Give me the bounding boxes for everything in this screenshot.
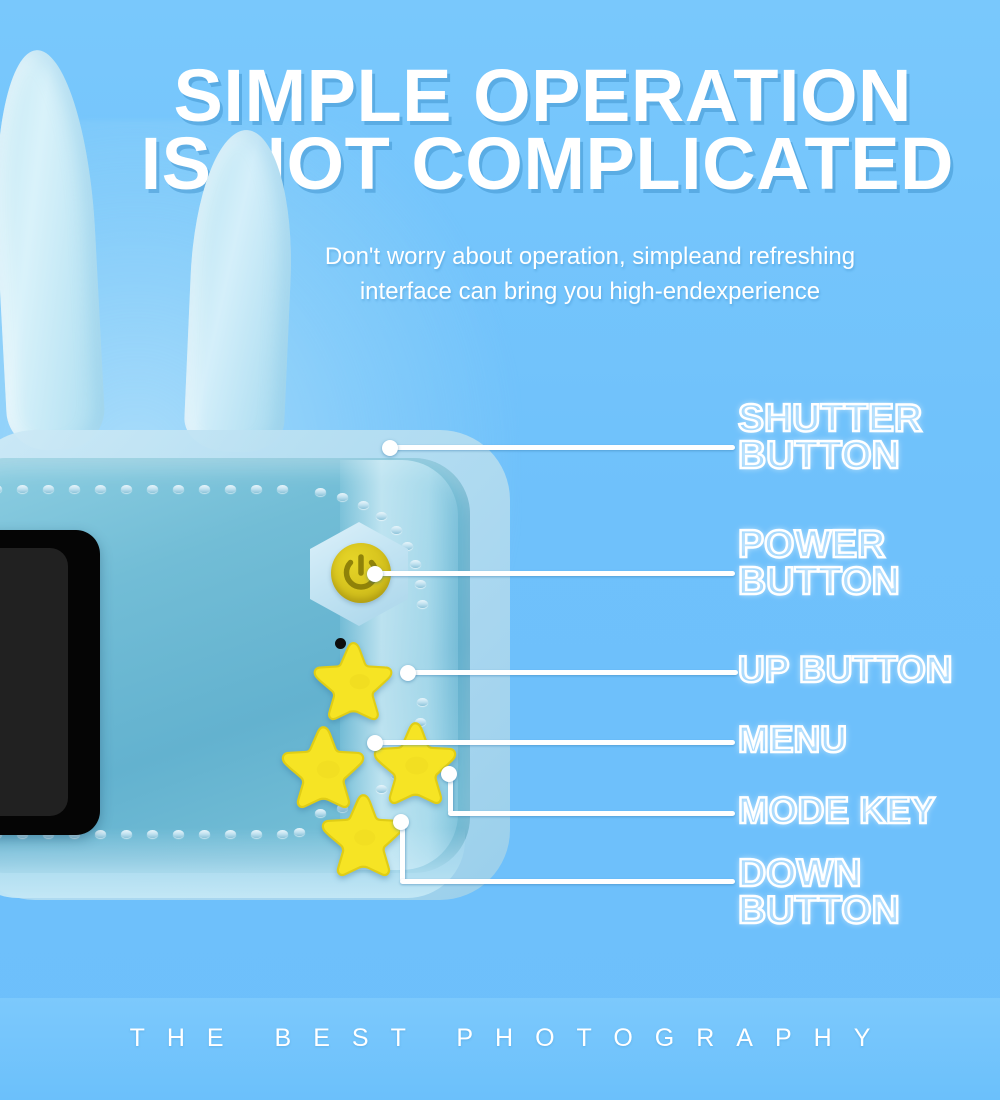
camera-rim-dot	[251, 830, 262, 838]
callout-line-down	[400, 879, 735, 884]
camera-rim-dot	[69, 485, 80, 493]
camera-rim-dot	[251, 485, 262, 493]
callout-line-shutter	[390, 445, 735, 450]
footer-band: THE BEST PHOTOGRAPHY	[0, 998, 1000, 1100]
callout-dot-menu	[367, 735, 383, 751]
callout-line-power	[375, 571, 735, 576]
camera-rim-dot	[147, 485, 158, 493]
callout-line-up	[408, 670, 738, 675]
camera-rim-dot	[147, 830, 158, 838]
callout-label-up: UP BUTTON	[738, 652, 952, 688]
headline-block: SIMPLE OPERATION IS NOT COMPLICATED	[0, 62, 960, 198]
camera-rim-dot	[358, 501, 369, 509]
camera-rim-dot	[121, 830, 132, 838]
headline-line-1: SIMPLE OPERATION	[0, 62, 960, 130]
headline-line-2: IS NOT COMPLICATED	[0, 130, 960, 198]
callout-line-mode	[448, 811, 735, 816]
camera-rim-dot	[417, 698, 428, 706]
camera-rim-dot	[417, 600, 428, 608]
callout-label-down: DOWN BUTTON	[738, 855, 900, 930]
callout-label-mode: MODE KEY	[738, 793, 935, 829]
camera-illustration	[0, 430, 530, 930]
subtitle-line-2: interface can bring you high-endexperien…	[230, 275, 950, 310]
camera-screen[interactable]	[0, 548, 68, 816]
camera-rim-dot	[415, 580, 426, 588]
camera-rim-dot	[376, 512, 387, 520]
subtitle-block: Don't worry about operation, simpleand r…	[230, 240, 950, 310]
camera-rim-dot	[225, 485, 236, 493]
camera-rim-dot	[95, 485, 106, 493]
callout-label-menu: MENU	[738, 722, 847, 758]
callout-dot-power	[367, 566, 383, 582]
camera-rim-dot	[199, 830, 210, 838]
camera-rim-dot	[315, 488, 326, 496]
callout-dot-down	[393, 814, 409, 830]
subtitle-line-1: Don't worry about operation, simpleand r…	[230, 240, 950, 275]
up-button[interactable]	[310, 638, 396, 722]
camera-rim-dot	[277, 485, 288, 493]
camera-rim-dot	[173, 830, 184, 838]
camera-rim-dot	[121, 485, 132, 493]
camera-rim-dot	[43, 485, 54, 493]
callout-label-power: POWER BUTTON	[738, 526, 900, 601]
camera-rim-dot	[199, 485, 210, 493]
callout-dot-up	[400, 665, 416, 681]
camera-rim-dot	[277, 830, 288, 838]
callout-dot-mode	[441, 766, 457, 782]
camera-rim-dot	[294, 828, 305, 836]
camera-rim-dot	[95, 830, 106, 838]
camera-rim-dot	[410, 560, 421, 568]
camera-rim-dot	[173, 485, 184, 493]
camera-rim-dot	[391, 526, 402, 534]
camera-rim-dot	[225, 830, 236, 838]
camera-rim-dot	[337, 493, 348, 501]
down-button[interactable]	[318, 790, 408, 878]
infographic-stage: SIMPLE OPERATION IS NOT COMPLICATED Don'…	[0, 0, 1000, 1100]
footer-tagline: THE BEST PHOTOGRAPHY	[0, 1024, 1000, 1053]
callout-label-shutter: SHUTTER BUTTON	[738, 400, 922, 475]
callout-dot-shutter	[382, 440, 398, 456]
camera-rim-dot	[17, 485, 28, 493]
callout-line-menu	[375, 740, 735, 745]
